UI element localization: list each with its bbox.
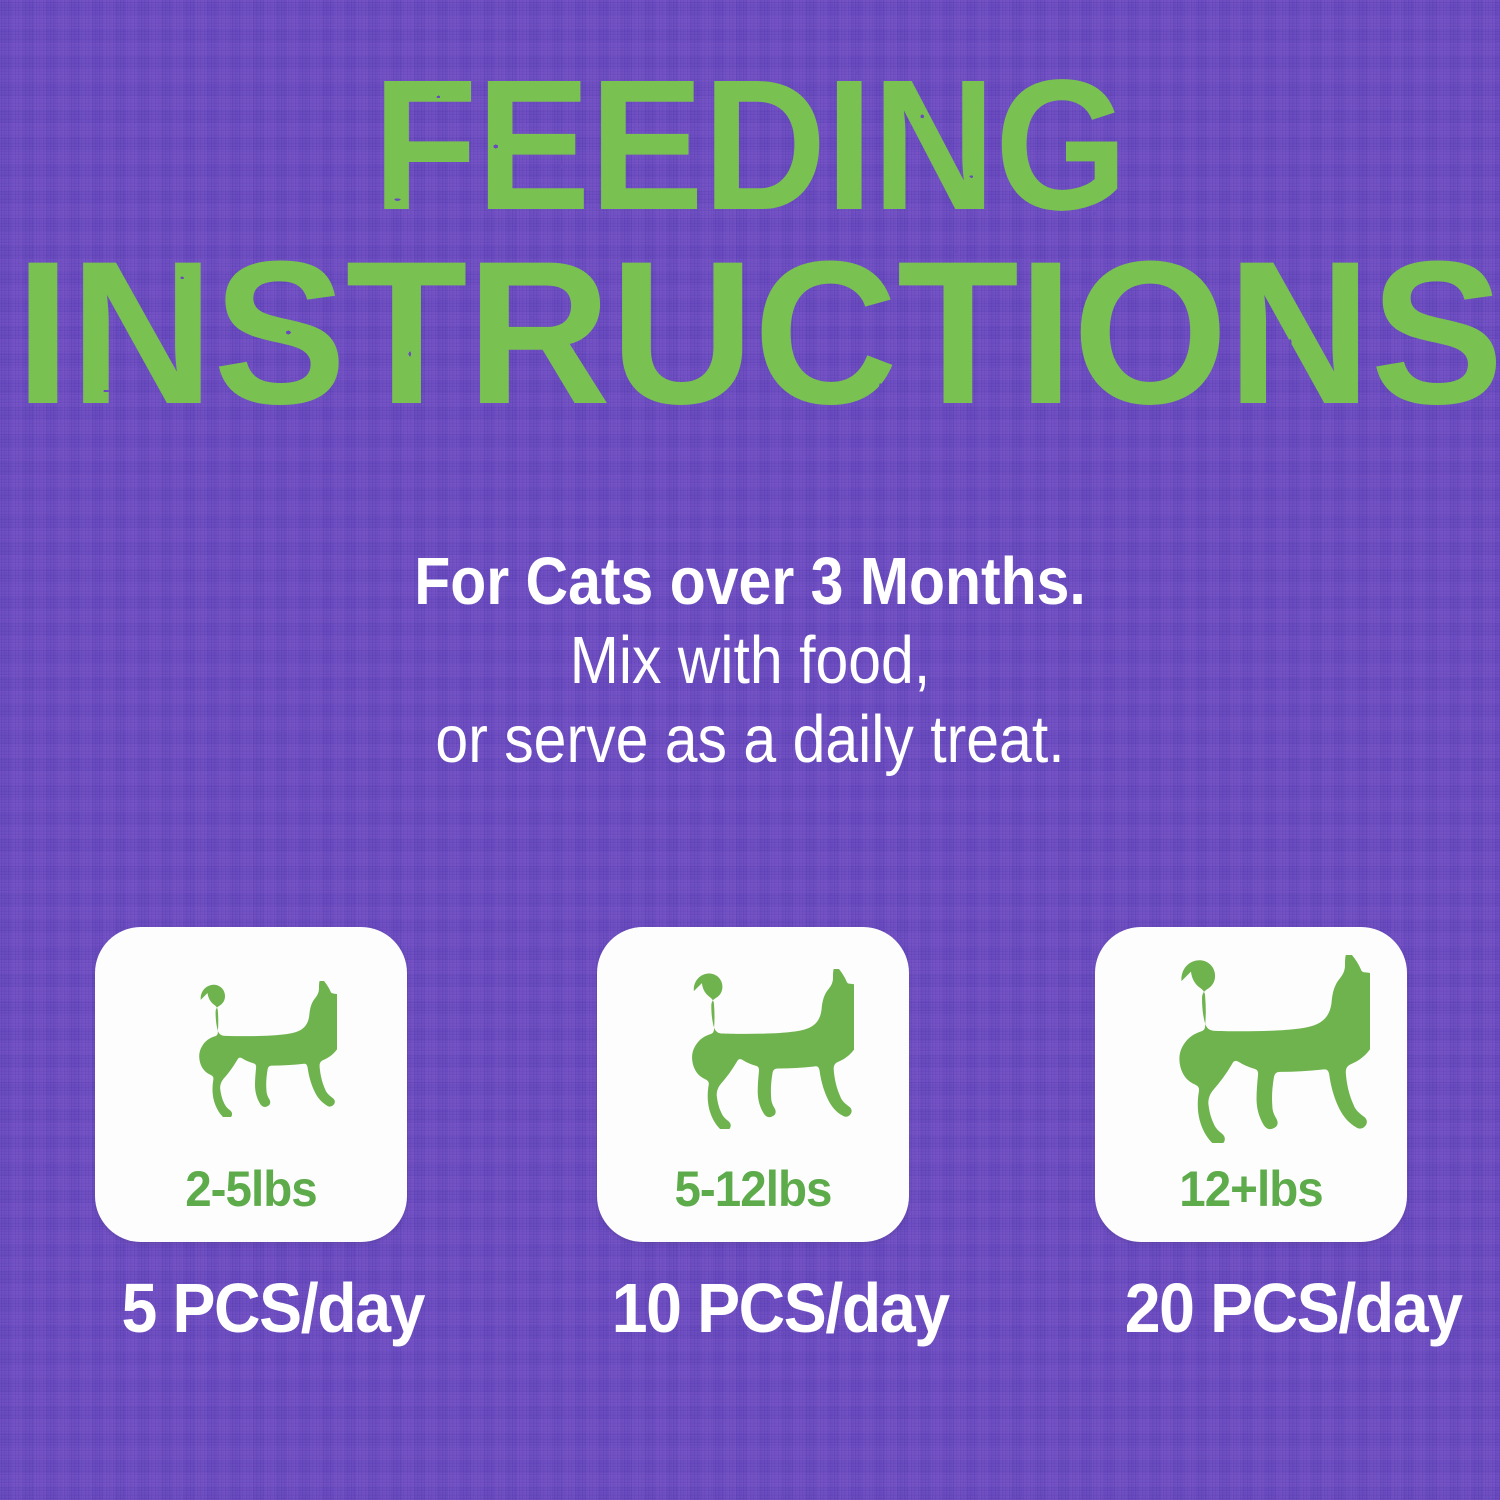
weight-card-5-12lbs[interactable]: 5-12lbs <box>597 927 909 1242</box>
cat-icon-holder-medium <box>597 939 909 1159</box>
feeding-subtitle: For Cats over 3 Months. Mix with food, o… <box>0 542 1500 779</box>
dose-label-large: 20 PCS/day <box>1100 1268 1486 1348</box>
title-line-2-wrap: INSTRUCTIONS <box>0 235 1500 431</box>
subtitle-line-treat: or serve as a daily treat. <box>90 700 1410 779</box>
page-title: FEEDING INSTRUCTIONS <box>0 58 1500 430</box>
dose-label-medium: 10 PCS/day <box>587 1268 973 1348</box>
cat-walking-icon <box>652 969 854 1129</box>
weight-label: 12+lbs <box>1103 1160 1399 1218</box>
weight-label: 5-12lbs <box>605 1160 901 1218</box>
subtitle-line-age: For Cats over 3 Months. <box>90 542 1410 621</box>
weight-card-12plus-lbs[interactable]: 12+lbs <box>1095 927 1407 1242</box>
dose-label-small: 5 PCS/day <box>98 1268 448 1348</box>
weight-label: 2-5lbs <box>103 1160 399 1218</box>
title-line-feeding: FEEDING <box>373 58 1127 235</box>
dose-label-row: 5 PCS/day 10 PCS/day 20 PCS/day <box>60 1268 1450 1358</box>
title-line-1-wrap: FEEDING <box>340 58 1160 235</box>
weight-class-card-row: 2-5lbs 5-12lbs 12+lbs <box>95 927 1407 1242</box>
feeding-instructions-panel: FEEDING INSTRUCTIONS For Cats over 3 Mon… <box>0 0 1500 1500</box>
cat-icon-holder-large <box>1095 939 1407 1159</box>
subtitle-line-mix: Mix with food, <box>90 621 1410 700</box>
cat-icon-holder-small <box>95 939 407 1159</box>
title-line-instructions: INSTRUCTIONS <box>15 237 1500 431</box>
cat-walking-icon <box>1132 955 1370 1143</box>
weight-card-2-5lbs[interactable]: 2-5lbs <box>95 927 407 1242</box>
cat-walking-icon <box>165 981 337 1117</box>
